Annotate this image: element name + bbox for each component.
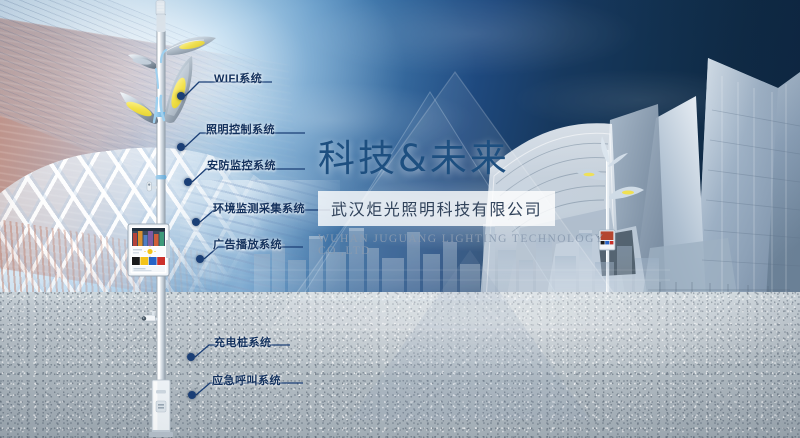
company-name-bar: 武汉炬光照明科技有限公司 [318, 191, 555, 226]
company-name-en: WUHAN JUGUANG LIGHTING TECHNOLOGY CO.,LT… [318, 233, 618, 257]
callout-label-emergency-call: 应急呼叫系统 [212, 372, 281, 388]
company-name-cn: 武汉炬光照明科技有限公司 [331, 200, 542, 219]
poster-canvas: WIFI系统 照明控制系统 安防监控系统 环境监测采集系统 广告播放系统 充电桩… [0, 0, 800, 438]
page-title: 科技&未来 [318, 140, 618, 179]
center-text-block: 科技&未来 武汉炬光照明科技有限公司 WUHAN JUGUANG LIGHTIN… [318, 140, 618, 257]
callout-dot [188, 391, 196, 399]
